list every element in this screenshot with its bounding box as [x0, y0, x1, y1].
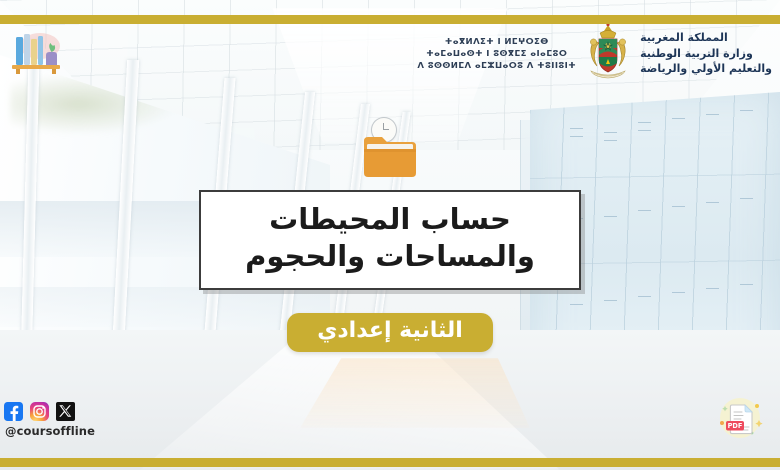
ministry-arabic-line-2: وزارة التربية الوطنية — [640, 47, 753, 62]
cover-page: ⵜⴰⴳⵍⴷⵉⵜ ⵏ ⵍⵎⵖⵔⵉⴱ ⵜⴰⵎⴰⵡⴰⵙⵜ ⵏ ⵓⵙⴳⵎⵉ ⴰⵏⴰⵎⵓⵔ… — [0, 0, 780, 470]
wall-clock-icon — [371, 117, 397, 143]
x-twitter-icon[interactable] — [56, 402, 75, 421]
facebook-icon[interactable] — [4, 402, 23, 421]
tifinagh-line-2: ⵜⴰⵎⴰⵡⴰⵙⵜ ⵏ ⵓⵙⴳⵎⵉ ⴰⵏⴰⵎⵓⵔ — [426, 49, 567, 59]
ministry-arabic-line-3: والتعليم الأولي والرياضة — [640, 62, 772, 77]
ministry-arabic-line-1: المملكة المغربية — [640, 31, 728, 46]
bottom-gold-rule — [0, 452, 780, 461]
pdf-document-icon[interactable]: PDF — [714, 392, 766, 444]
tifinagh-line-3: ⴷ ⵓⵙⵙⵍⵎⴷ ⴰⵎⵣⵡⴰⵔⵓ ⴷ ⵜⵓⵏⵏⵓⵏⵜ — [417, 61, 576, 71]
ministry-arabic-text: المملكة المغربية وزارة التربية الوطنية و… — [640, 31, 772, 78]
instagram-icon[interactable] — [30, 402, 49, 421]
pdf-badge-label: PDF — [728, 422, 743, 430]
ministry-header: ⵜⴰⴳⵍⴷⵉⵜ ⵏ ⵍⵎⵖⵔⵉⴱ ⵜⴰⵎⴰⵡⴰⵙⵜ ⵏ ⵓⵙⴳⵎⵉ ⴰⵏⴰⵎⵓⵔ… — [417, 20, 772, 88]
social-footer: @coursoffline — [4, 402, 95, 438]
social-icon-row — [4, 402, 95, 421]
tifinagh-ministry-text: ⵜⴰⴳⵍⴷⵉⵜ ⵏ ⵍⵎⵖⵔⵉⴱ ⵜⴰⵎⴰⵡⴰⵙⵜ ⵏ ⵓⵙⴳⵎⵉ ⴰⵏⴰⵎⵓⵔ… — [417, 37, 576, 71]
bookshelf-logo — [6, 22, 68, 84]
top-gold-rule — [0, 9, 780, 18]
social-handle: @coursoffline — [4, 424, 95, 438]
morocco-coat-of-arms — [584, 21, 632, 87]
tifinagh-line-1: ⵜⴰⴳⵍⴷⵉⵜ ⵏ ⵍⵎⵖⵔⵉⴱ — [445, 37, 549, 47]
